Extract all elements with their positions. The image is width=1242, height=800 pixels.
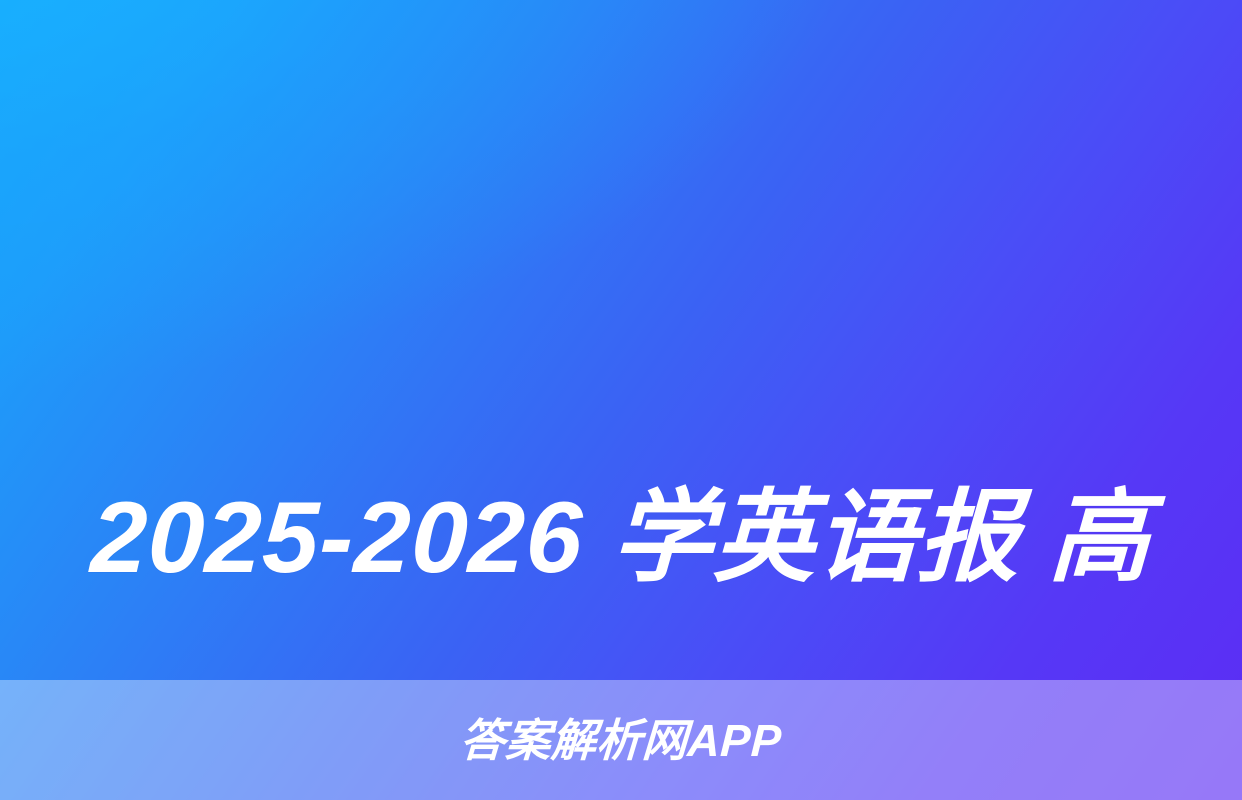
title-card: 2025-2026 学英语报 高 二 新课程课标基础 第5 期答案 答案解析网A… [0, 0, 1242, 800]
footer-band: 答案解析网APP [0, 680, 1242, 800]
page-title-line-1: 2025-2026 学英语报 高 [37, 466, 1204, 610]
app-watermark-label: 答案解析网APP [459, 718, 783, 763]
